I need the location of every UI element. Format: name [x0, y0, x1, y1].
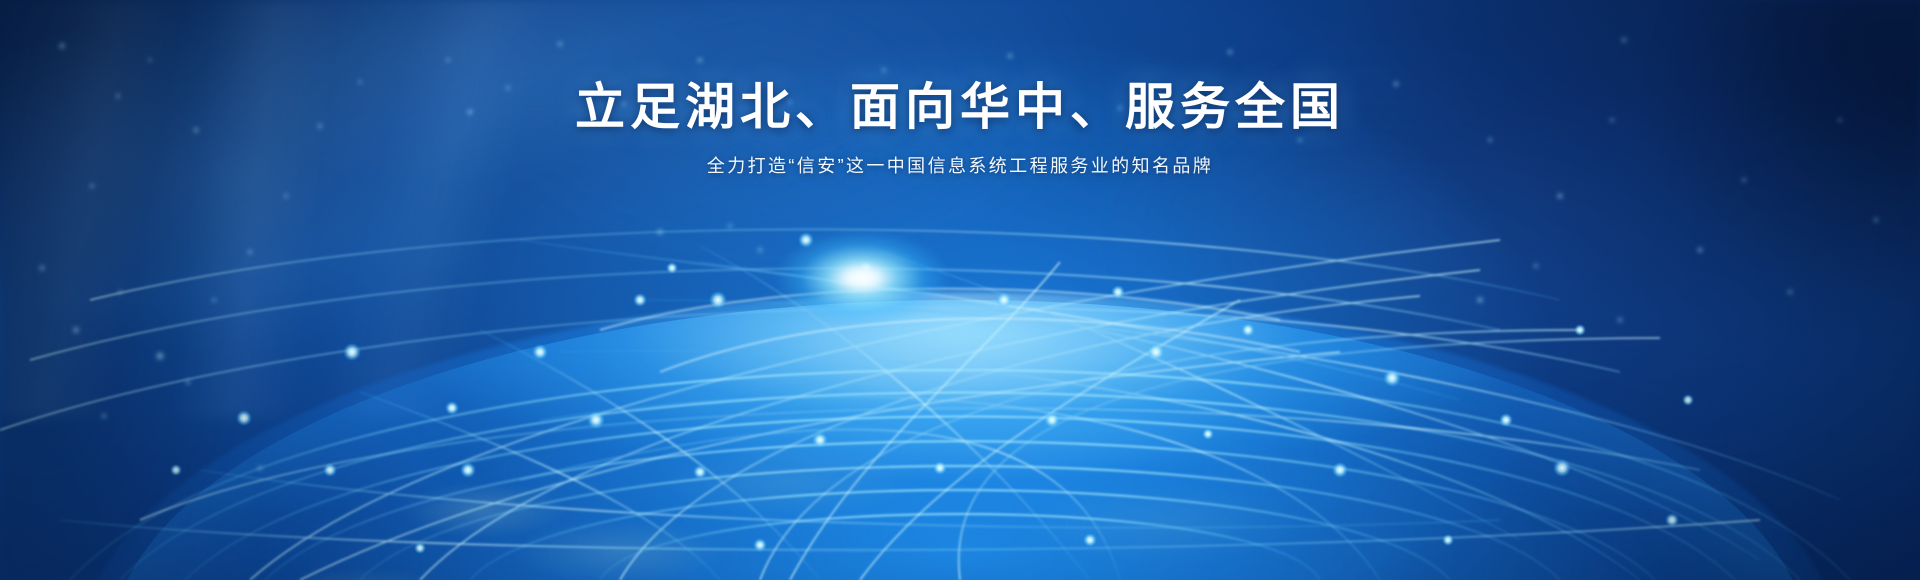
hero-banner: 立足湖北、面向华中、服务全国 全力打造“信安”这一中国信息系统工程服务业的知名品…: [0, 0, 1920, 580]
page-title: 立足湖北、面向华中、服务全国: [0, 78, 1920, 137]
page-subtitle: 全力打造“信安”这一中国信息系统工程服务业的知名品牌: [0, 153, 1920, 180]
hero-copy: 立足湖北、面向华中、服务全国 全力打造“信安”这一中国信息系统工程服务业的知名品…: [0, 78, 1920, 180]
